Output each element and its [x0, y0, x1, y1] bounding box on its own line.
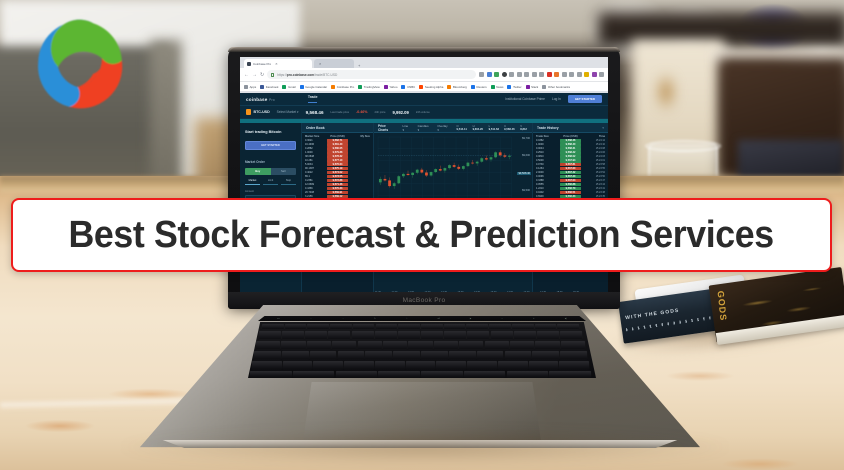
order-book-header: Order Book: [302, 123, 373, 133]
back-icon[interactable]: ←: [244, 72, 249, 78]
keyboard-key[interactable]: [557, 324, 579, 329]
price-change-label: 24h price: [374, 111, 385, 114]
ohlc-item: L 9,511.63: [489, 125, 499, 131]
order-size: 0.2882: [305, 147, 325, 150]
keyboard-key[interactable]: [498, 361, 528, 369]
bookmark-label: Reuters: [477, 85, 487, 89]
buy-button[interactable]: Buy: [245, 168, 271, 175]
new-tab-icon[interactable]: +: [356, 63, 362, 68]
keyboard-key[interactable]: [505, 351, 532, 359]
tab-limit[interactable]: Limit: [263, 179, 278, 185]
address-bar-url: https://pro.coinbase.com/trade/BTC-USD: [277, 73, 337, 77]
extension-icon[interactable]: [577, 72, 582, 77]
trade-size: 1.2210: [536, 187, 558, 190]
order-price: 9,569.91: [327, 191, 347, 194]
candle-body: [425, 173, 428, 176]
col-price: Price (USD): [327, 135, 347, 138]
candle-body: [471, 163, 474, 164]
extension-icon[interactable]: [547, 72, 552, 77]
order-price: 9,574.02: [327, 171, 347, 174]
bookmark-label: Seeking Alpha: [425, 85, 443, 89]
touch-bar-item[interactable]: ▶: [470, 318, 471, 320]
trade-time: 15:24:06: [583, 151, 605, 154]
keyboard-key[interactable]: [444, 331, 466, 339]
touch-bar-item[interactable]: ᴀA: [438, 318, 440, 320]
candle-body: [384, 179, 387, 180]
ticker-pair-label: BTC-USD: [254, 110, 270, 114]
logo-arc-blue-lower: [38, 60, 80, 107]
chart-toolbar: Price Charts Line ▾ Candles ▾ Overlay ▾ …: [374, 123, 532, 133]
reload-icon[interactable]: ↻: [260, 72, 264, 78]
laptop-keyboard[interactable]: [248, 322, 596, 378]
get-started-button[interactable]: GET STARTED: [568, 95, 602, 103]
bookmark-item[interactable]: Bloomberg: [447, 85, 467, 89]
keyboard-key[interactable]: [449, 351, 476, 359]
buy-sell-toggle: Buy Sell: [245, 168, 296, 175]
keyboard-key[interactable]: [375, 361, 405, 369]
keyboard-key[interactable]: [252, 361, 282, 369]
extension-icon[interactable]: [554, 72, 559, 77]
bookmark-item[interactable]: Yahoo: [384, 85, 398, 89]
touch-bar-item[interactable]: ☆: [406, 318, 408, 320]
extension-icon[interactable]: [479, 72, 484, 77]
y-axis-label: $9,600: [521, 154, 531, 157]
keyboard-key[interactable]: [514, 331, 536, 339]
link-login[interactable]: Log In: [552, 97, 561, 101]
candle-body: [444, 168, 447, 170]
trade-size: 0.3388: [536, 179, 558, 182]
bookmark-item[interactable]: News: [491, 85, 504, 89]
ohlc-item: H 9,604.20: [473, 125, 484, 131]
bookmark-icon: [507, 85, 511, 89]
extension-icon[interactable]: [509, 72, 514, 77]
bookmark-icon: [471, 85, 475, 89]
sidebar-get-started-button[interactable]: GET STARTED: [245, 141, 296, 150]
title-banner: Best Stock Forecast & Prediction Service…: [11, 198, 832, 272]
close-icon[interactable]: ×: [317, 61, 323, 66]
candle-body: [453, 165, 456, 167]
bookmark-icon: [331, 85, 335, 89]
bookmark-icon: [542, 85, 546, 89]
keyboard-key[interactable]: [398, 324, 420, 329]
order-price: 9,580.05: [327, 147, 347, 150]
keyboard-key[interactable]: [283, 361, 313, 369]
browser-tab[interactable]: Coinbase Pro ×: [244, 59, 312, 68]
trade-price: 9,568.02: [560, 155, 582, 158]
keyboard-key[interactable]: [262, 324, 284, 329]
trade-time: 15:24:03: [583, 155, 605, 158]
ticker-pair[interactable]: BTC-USD: [246, 109, 270, 115]
chart-ohlc-readout: O 9,544.11H 9,604.20L 9,511.63C 9,568.46…: [457, 125, 529, 131]
sidebar-heading: Start trading Bitcoin: [245, 130, 296, 135]
keyboard-key[interactable]: [421, 331, 443, 339]
keyboard-key[interactable]: [282, 331, 304, 339]
extension-icon[interactable]: [532, 72, 537, 77]
bookmark-label: Google Calendar: [305, 85, 327, 89]
order-size: 16.4936: [305, 143, 325, 146]
extension-icon[interactable]: [502, 72, 507, 77]
order-type-tabs: Market Limit Stop: [245, 179, 296, 185]
keyboard-keys: [248, 322, 596, 378]
browser-tabstrip: Coinbase Pro × × +: [240, 57, 608, 68]
browser-tab[interactable]: ×: [314, 59, 354, 68]
keyboard-key[interactable]: [336, 371, 378, 377]
candle-body: [467, 163, 470, 166]
extension-icon[interactable]: [487, 72, 492, 77]
trade-time: 15:24:12: [583, 139, 605, 142]
bookmark-label: Coinbase Pro: [337, 85, 355, 89]
candle-body: [499, 152, 502, 155]
keyboard-key[interactable]: [254, 351, 281, 359]
trade-size: 0.0096: [536, 175, 558, 178]
col-price: Price (USD): [560, 135, 582, 138]
tab-title: Coinbase Pro: [253, 62, 271, 66]
keyboard-key[interactable]: [307, 324, 329, 329]
trade-time: 15:24:10: [583, 143, 605, 146]
order-price: 9,581.40: [327, 143, 347, 146]
bookmark-item[interactable]: Gmail: [282, 85, 295, 89]
forward-icon[interactable]: →: [252, 72, 257, 78]
order-price: 9,582.71: [327, 139, 347, 142]
touch-bar-item[interactable]: ♫: [501, 318, 502, 320]
candle-body: [462, 166, 465, 169]
keyboard-key[interactable]: [560, 331, 582, 339]
keyboard-key[interactable]: [338, 351, 365, 359]
app-header-right: Institutional Coinbase Prime Log In GET …: [505, 95, 602, 103]
order-price: 9,576.64: [327, 163, 347, 166]
keyboard-key[interactable]: [307, 341, 331, 349]
ticker-bar: BTC-USD Select Market ▾ 9,568.46 Last tr…: [240, 106, 608, 119]
order-price: 9,571.46: [327, 183, 347, 186]
keyboard-key[interactable]: [344, 361, 374, 369]
favicon-icon: [247, 62, 251, 66]
trade-history-row: 0.04029,566.5115:23:38: [533, 191, 608, 195]
touch-bar-item[interactable]: ☀: [533, 318, 535, 320]
browser-chrome: Coinbase Pro × × + ← → ↻ https://pro.coi…: [240, 57, 608, 93]
keyboard-key[interactable]: [352, 331, 374, 339]
trade-price: 9,566.70: [560, 187, 582, 190]
order-price: 9,578.32: [327, 155, 347, 158]
bookmark-item[interactable]: Apps: [244, 85, 256, 89]
candle-body: [448, 165, 451, 168]
order-price: 9,572.88: [327, 179, 347, 182]
profile-avatar-icon[interactable]: [592, 72, 597, 77]
tab-stop[interactable]: Stop: [281, 179, 296, 185]
candle-body: [503, 155, 506, 156]
extension-icon[interactable]: [494, 72, 499, 77]
keyboard-key[interactable]: [313, 361, 343, 369]
keyboard-key[interactable]: [532, 351, 559, 359]
keyboard-key[interactable]: [421, 371, 463, 377]
candle-body: [379, 179, 382, 182]
keyboard-key[interactable]: [285, 324, 307, 329]
extension-icon[interactable]: [517, 72, 522, 77]
keyboard-key[interactable]: [375, 331, 397, 339]
price-change: -0.46%: [356, 110, 367, 114]
laptop-lid-highlight: [228, 47, 620, 52]
candle-body: [388, 180, 391, 186]
trade-time: 15:24:08: [583, 147, 605, 150]
trade-price: 9,568.40: [560, 143, 582, 146]
bookmark-icon: [384, 85, 388, 89]
order-size: 89.1: [305, 175, 325, 178]
trade-time: 15:23:58: [583, 163, 605, 166]
bookmark-label: Apps: [250, 85, 257, 89]
bookmark-icon: [447, 85, 451, 89]
last-price: 9,568.46: [306, 110, 324, 115]
candle-body: [439, 169, 442, 170]
bookmark-item[interactable]: Facebook: [260, 85, 278, 89]
keyboard-key[interactable]: [529, 361, 559, 369]
touch-bar-item[interactable]: esc: [277, 318, 280, 320]
trade-time: 15:23:52: [583, 171, 605, 174]
col-market-size: Market Size: [305, 135, 325, 138]
trade-price: 9,566.51: [560, 191, 582, 194]
keyboard-key[interactable]: [444, 324, 466, 329]
keyboard-key[interactable]: [434, 341, 458, 349]
keyboard-key[interactable]: [406, 361, 436, 369]
candle-body: [430, 172, 433, 175]
sell-button[interactable]: Sell: [271, 168, 297, 175]
keyboard-key[interactable]: [489, 324, 511, 329]
tri-swirl-circle-logo[interactable]: [25, 10, 135, 120]
bookmark-icon: [300, 85, 304, 89]
keyboard-key[interactable]: [305, 331, 327, 339]
laptop-shadow: [120, 430, 730, 464]
candle-body: [397, 176, 400, 183]
bookmark-label: Other bookmarks: [548, 85, 570, 89]
keyboard-key[interactable]: [560, 351, 587, 359]
bookmark-icon: [260, 85, 264, 89]
extension-icon[interactable]: [562, 72, 567, 77]
keyboard-key[interactable]: [408, 341, 432, 349]
keyboard-key[interactable]: [535, 341, 559, 349]
touch-bar-items: esc←→↻☆ᴀA▶♫☀◀): [262, 317, 582, 321]
keyboard-key[interactable]: [365, 351, 392, 359]
keyboard-key[interactable]: [378, 371, 420, 377]
bookmark-item[interactable]: CNBC: [401, 85, 415, 89]
keyboard-key[interactable]: [383, 341, 407, 349]
candle-body: [393, 183, 396, 186]
scene: WITH THE GODS GODS Coinbase Pro × ×: [0, 0, 844, 470]
extension-icon[interactable]: [524, 72, 529, 77]
ohlc-item: O 9,544.11: [457, 125, 468, 131]
trade-history-row: 1.22109,566.7015:23:41: [533, 187, 608, 191]
y-axis-label: $9,500: [521, 189, 531, 192]
ohlc-item: C 9,568.46: [504, 125, 515, 131]
keyboard-key[interactable]: [353, 324, 375, 329]
app-header: coinbase Pro Trade Institutional Coinbas…: [240, 93, 608, 106]
keyboard-key[interactable]: [281, 341, 305, 349]
bookmark-label: Twitter: [513, 85, 522, 89]
trade-size: 0.5000: [536, 159, 558, 162]
bookmark-label: TradingView: [364, 85, 380, 89]
keyboard-key[interactable]: [376, 324, 398, 329]
bookmark-item[interactable]: Twitter: [507, 85, 521, 89]
close-icon[interactable]: ×: [273, 61, 279, 66]
bookmark-label: Bloomberg: [453, 85, 467, 89]
keyboard-key[interactable]: [507, 371, 549, 377]
keyboard-key[interactable]: [512, 324, 534, 329]
trade-size: 0.0402: [536, 191, 558, 194]
trade-time: 15:23:38: [583, 191, 605, 194]
order-size: 20.7408: [305, 191, 325, 194]
collapse-icon[interactable]: ▾: [602, 126, 604, 130]
keyboard-key[interactable]: [459, 341, 483, 349]
keyboard-key[interactable]: [466, 324, 488, 329]
trade-size: 0.0810: [536, 155, 558, 158]
trade-price: 9,567.60: [560, 167, 582, 170]
keyboard-key[interactable]: [398, 331, 420, 339]
bookmark-item[interactable]: Google Calendar: [300, 85, 327, 89]
bookmark-item[interactable]: Other bookmarks: [542, 85, 570, 89]
extension-icon[interactable]: [584, 72, 589, 77]
trade-time: 15:23:50: [583, 175, 605, 178]
menu-icon[interactable]: [599, 72, 604, 77]
keyboard-key[interactable]: [393, 351, 420, 359]
keyboard-key[interactable]: [467, 331, 489, 339]
order-size: 0.3621: [305, 139, 325, 142]
y-axis-label: $9,700: [521, 137, 531, 140]
browser-toolbar: ← → ↻ https://pro.coinbase.com/trade/BTC…: [240, 68, 608, 81]
coinbase-logo[interactable]: coinbase Pro: [246, 97, 275, 102]
bookmark-icon: [282, 85, 286, 89]
bookmark-item[interactable]: TradingView: [358, 85, 380, 89]
bookmark-item[interactable]: Seeking Alpha: [419, 85, 443, 89]
order-price: 9,570.33: [327, 187, 347, 190]
trade-price: 9,568.46: [560, 139, 582, 142]
keyboard-key[interactable]: [549, 371, 591, 377]
candle-body: [416, 170, 419, 173]
trade-price: 9,567.42: [560, 171, 582, 174]
touch-bar-item[interactable]: ←: [310, 318, 312, 320]
bookmark-label: News: [496, 85, 503, 89]
extension-icon[interactable]: [539, 72, 544, 77]
bitcoin-icon: [246, 109, 251, 115]
keyboard-key[interactable]: [310, 351, 337, 359]
candle-body: [407, 174, 410, 175]
keyboard-key[interactable]: [464, 371, 506, 377]
trade-size: 0.2510: [536, 151, 558, 154]
keyboard-key[interactable]: [477, 351, 504, 359]
candle-body: [434, 169, 437, 172]
keyboard-key[interactable]: [491, 331, 513, 339]
trade-price: 9,567.94: [560, 159, 582, 162]
order-size: 5.0034: [305, 163, 325, 166]
keyboard-key[interactable]: [358, 341, 382, 349]
keyboard-key[interactable]: [250, 371, 292, 377]
candle-body: [457, 167, 460, 169]
candle-body: [476, 162, 479, 164]
order-book-title: Order Book: [306, 126, 325, 130]
candle-body: [480, 158, 483, 161]
order-price: 9,577.10: [327, 159, 347, 162]
keyboard-key[interactable]: [330, 324, 352, 329]
keyboard-key[interactable]: [436, 361, 466, 369]
app-nav: Trade: [308, 95, 318, 103]
touch-bar-item[interactable]: ◀): [565, 318, 567, 320]
last-price-label: Last trade price: [331, 111, 350, 114]
extension-icon[interactable]: [569, 72, 574, 77]
volume-label: 24h volume: [416, 111, 430, 114]
bookmark-item[interactable]: Slack: [526, 85, 539, 89]
keyboard-key[interactable]: [282, 351, 309, 359]
bookmark-label: Gmail: [288, 85, 296, 89]
order-size: 10.281: [305, 159, 325, 162]
ohlc-item: V 8,812: [520, 125, 528, 131]
touch-bar-item[interactable]: →: [342, 318, 344, 320]
trade-time: 15:24:01: [583, 159, 605, 162]
order-price: 9,575.19: [327, 167, 347, 170]
order-size: 90.1387: [305, 167, 325, 170]
y-axis-label: $9,568.46: [517, 172, 531, 175]
keyboard-key[interactable]: [485, 341, 509, 349]
trade-time: 15:23:44: [583, 183, 605, 186]
trade-size: 0.0382: [536, 139, 558, 142]
bookmark-icon: [491, 85, 495, 89]
bookmark-label: Yahoo: [389, 85, 397, 89]
keyboard-key[interactable]: [510, 341, 534, 349]
trade-price: 9,567.20: [560, 175, 582, 178]
order-form-title: Market Order: [245, 160, 296, 164]
keyboard-key[interactable]: [467, 361, 497, 369]
order-price: 9,579.88: [327, 151, 347, 154]
bookmark-label: CNBC: [407, 85, 415, 89]
chart-candles-select[interactable]: Candles ▾: [418, 124, 430, 132]
chart-type-select[interactable]: Line ▾: [403, 124, 410, 132]
bookmark-item[interactable]: Coinbase Pro: [331, 85, 354, 89]
order-price: 9,573.55: [327, 175, 347, 178]
extension-icons: [479, 72, 604, 77]
keyboard-key[interactable]: [559, 361, 589, 369]
bookmark-icon: [244, 85, 248, 89]
keyboard-key[interactable]: [421, 324, 443, 329]
bookmark-item[interactable]: Reuters: [471, 85, 487, 89]
col-time: Time: [583, 135, 605, 138]
bookmark-label: Facebook: [266, 85, 279, 89]
keyboard-key[interactable]: [256, 341, 280, 349]
chart-overlay-select[interactable]: Overlay ▾: [437, 124, 448, 132]
keyboard-key[interactable]: [421, 351, 448, 359]
trade-price: 9,567.81: [560, 163, 582, 166]
touch-bar-item[interactable]: ↻: [374, 318, 376, 320]
keyboard-key[interactable]: [561, 341, 585, 349]
trade-price: 9,566.88: [560, 183, 582, 186]
order-size: 12.6699: [305, 183, 325, 186]
keyboard-key[interactable]: [259, 331, 281, 339]
page-title: Best Stock Forecast & Prediction Service…: [69, 214, 774, 257]
keyboard-key[interactable]: [328, 331, 350, 339]
trade-price: 9,568.22: [560, 151, 582, 154]
keyboard-key[interactable]: [293, 371, 335, 377]
tab-market[interactable]: Market: [245, 179, 260, 185]
keyboard-key[interactable]: [535, 324, 557, 329]
keyboard-key[interactable]: [537, 331, 559, 339]
market-selector[interactable]: Select Market ▾: [277, 110, 299, 114]
trade-time: 15:23:47: [583, 179, 605, 182]
trade-size: 0.0044: [536, 147, 558, 150]
address-bar[interactable]: https://pro.coinbase.com/trade/BTC-USD: [267, 70, 476, 79]
trade-size: 2.0000: [536, 171, 558, 174]
keyboard-key[interactable]: [332, 341, 356, 349]
bookmark-icon: [419, 85, 423, 89]
link-institutional[interactable]: Institutional Coinbase Prime: [505, 97, 545, 101]
candle-body: [508, 156, 511, 157]
candle-body: [420, 170, 423, 173]
trade-history-title: Trade History: [537, 126, 559, 130]
tab-trade[interactable]: Trade: [308, 95, 318, 103]
trade-size: 0.0555: [536, 183, 558, 186]
